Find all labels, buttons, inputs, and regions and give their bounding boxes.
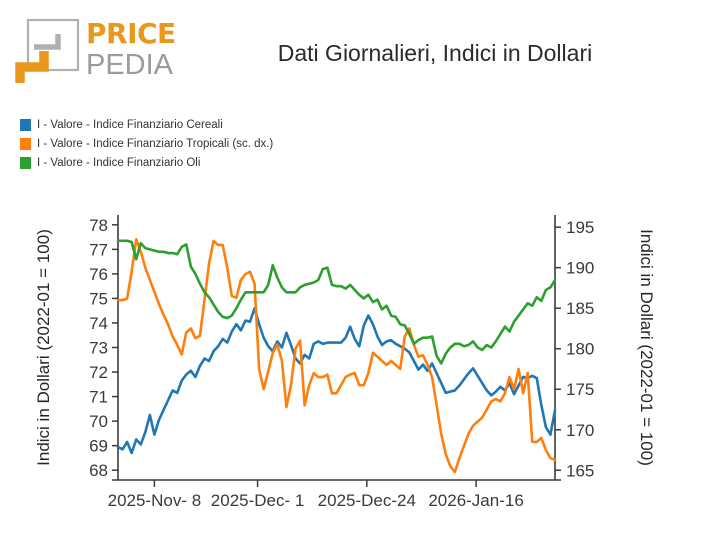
right-tick-label: 185 — [566, 299, 594, 318]
chart-title: Dati Giornalieri, Indici in Dollari — [200, 40, 670, 67]
left-axis-title: Indici in Dollari (2022-01 = 100) — [34, 229, 53, 466]
legend-label-cereali: I - Valore - Indice Finanziario Cereali — [37, 119, 223, 132]
legend-swatch-cereali — [20, 119, 31, 131]
logo-mark-icon — [14, 17, 86, 89]
right-tick-label: 190 — [566, 259, 594, 278]
x-tick-label: 2025-Dec- 1 — [211, 491, 305, 510]
logo-wordmark: PRICE PEDIA — [86, 19, 186, 89]
logo-word-pedia: PEDIA — [86, 49, 186, 81]
series-lines-group — [118, 239, 555, 472]
legend-label-tropicali: I - Valore - Indice Finanziario Tropical… — [37, 138, 273, 151]
left-tick-label: 71 — [89, 388, 108, 407]
axis-labels-group: 6869707172737475767778165170175180185190… — [34, 216, 656, 510]
x-tick-label: 2025-Nov- 8 — [108, 491, 202, 510]
legend-label-oli: I - Valore - Indice Finanziario Oli — [37, 157, 200, 170]
chart-legend: I - Valore - Indice Finanziario Cereali … — [20, 117, 273, 174]
left-tick-label: 70 — [89, 412, 108, 431]
series-line-0 — [118, 308, 555, 453]
series-line-2 — [118, 241, 555, 364]
right-tick-label: 195 — [566, 218, 594, 237]
right-tick-label: 165 — [566, 461, 594, 480]
x-tick-label: 2025-Dec-24 — [318, 491, 416, 510]
left-tick-label: 72 — [89, 363, 108, 382]
axes-group — [112, 215, 561, 487]
left-tick-label: 75 — [89, 289, 108, 308]
right-tick-label: 180 — [566, 340, 594, 359]
legend-swatch-tropicali — [20, 138, 31, 150]
left-tick-label: 73 — [89, 339, 108, 358]
left-tick-label: 69 — [89, 437, 108, 456]
right-tick-label: 175 — [566, 380, 594, 399]
legend-item-tropicali[interactable]: I - Valore - Indice Finanziario Tropical… — [20, 136, 273, 152]
legend-item-oli[interactable]: I - Valore - Indice Finanziario Oli — [20, 155, 273, 171]
series-line-1 — [118, 239, 555, 472]
left-tick-label: 78 — [89, 216, 108, 235]
right-axis-title: Indici in Dollari (2022-01 = 100) — [637, 229, 656, 466]
left-tick-label: 76 — [89, 265, 108, 284]
right-tick-label: 170 — [566, 421, 594, 440]
legend-swatch-oli — [20, 157, 31, 169]
left-tick-label: 74 — [89, 314, 108, 333]
legend-item-cereali[interactable]: I - Valore - Indice Finanziario Cereali — [20, 117, 273, 133]
pricepedia-logo: PRICE PEDIA — [14, 17, 186, 89]
left-tick-label: 68 — [89, 461, 108, 480]
left-tick-label: 77 — [89, 240, 108, 259]
chart-header: PRICE PEDIA Dati Giornalieri, Indici in … — [0, 0, 712, 100]
logo-word-price: PRICE — [86, 19, 186, 49]
x-tick-label: 2026-Jan-16 — [428, 491, 523, 510]
